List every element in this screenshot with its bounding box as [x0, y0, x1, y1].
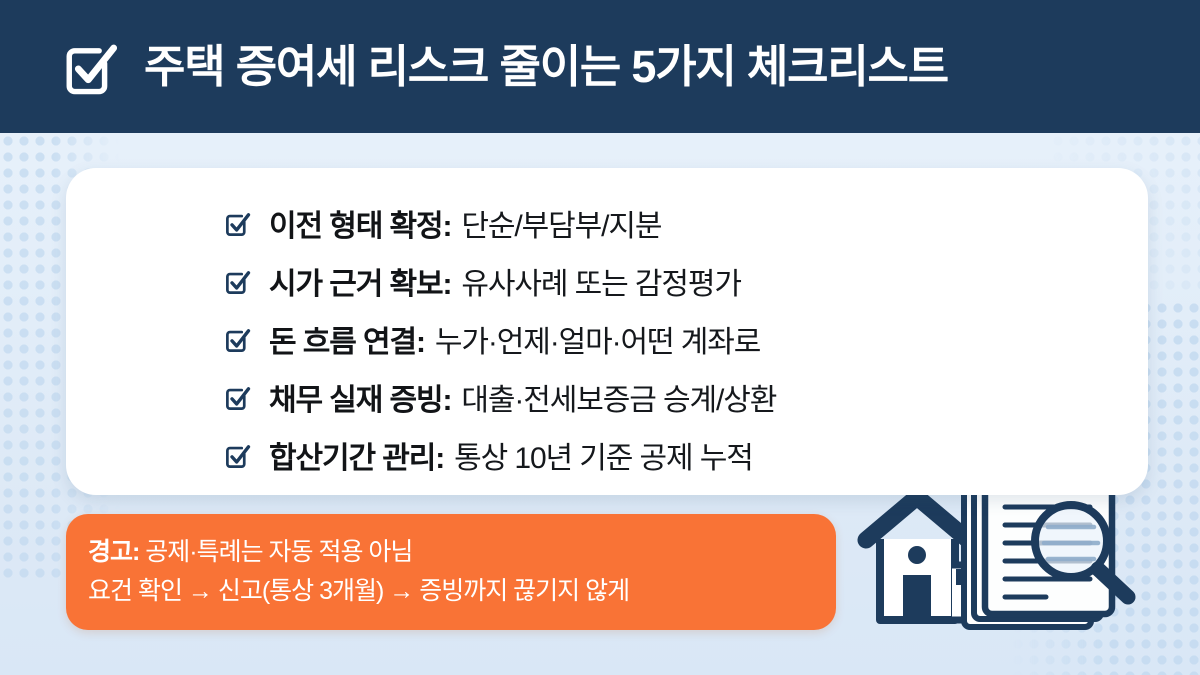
checkbox-check-icon [224, 443, 251, 470]
list-item: 시가 근거 확보: 유사사례 또는 감정평가 [224, 252, 1148, 310]
warning-banner: 경고: 공제·특례는 자동 적용 아님 요건 확인 → 신고(통상 3개월) →… [66, 514, 836, 630]
checkbox-check-icon [224, 327, 251, 354]
checklist-card: 이전 형태 확정: 단순/부담부/지분 시가 근거 확보: 유사사례 또는 감정… [66, 168, 1148, 495]
list-item-label: 이전 형태 확정: [269, 201, 451, 245]
list-item-label: 시가 근거 확보: [269, 259, 451, 303]
list-item: 돈 흐름 연결: 누가·언제·얼마·어떤 계좌로 [224, 310, 1148, 368]
list-item-value: 통상 10년 기준 공제 누적 [454, 433, 753, 477]
house-icon [866, 497, 972, 620]
warning-prefix: 경고: [88, 538, 139, 566]
list-item-value: 유사사례 또는 감정평가 [461, 259, 740, 303]
list-item-value: 단순/부담부/지분 [461, 201, 661, 245]
warning-line-2: 요건 확인 → 신고(통상 3개월) → 증빙까지 끊기지 않게 [88, 572, 836, 611]
list-item-value: 대출·전세보증금 승계/상환 [461, 375, 776, 419]
checkbox-check-icon [62, 39, 120, 97]
warning-text: 공제·특례는 자동 적용 아님 [139, 538, 412, 566]
list-item: 채무 실재 증빙: 대출·전세보증금 승계/상환 [224, 368, 1148, 426]
list-item-label: 채무 실재 증빙: [269, 375, 451, 419]
list-item: 이전 형태 확정: 단순/부담부/지분 [224, 194, 1148, 252]
header-band: 주택 증여세 리스크 줄이는 5가지 체크리스트 [0, 0, 1200, 133]
list-item-label: 합산기간 관리: [269, 433, 444, 477]
warning-line-1: 경고: 공제·특례는 자동 적용 아님 [88, 533, 836, 572]
list-item: 합산기간 관리: 통상 10년 기준 공제 누적 [224, 426, 1148, 484]
checkbox-check-icon [224, 385, 251, 412]
list-item-label: 돈 흐름 연결: [269, 317, 425, 361]
page-title: 주택 증여세 리스크 줄이는 5가지 체크리스트 [144, 44, 948, 89]
checkbox-check-icon [224, 269, 251, 296]
list-item-value: 누가·언제·얼마·어떤 계좌로 [435, 317, 760, 361]
checkbox-check-icon [224, 211, 251, 238]
checklist: 이전 형태 확정: 단순/부담부/지분 시가 근거 확보: 유사사례 또는 감정… [66, 194, 1148, 484]
infographic-canvas: 주택 증여세 리스크 줄이는 5가지 체크리스트 이전 형태 확정: 단순/부담… [0, 0, 1200, 675]
